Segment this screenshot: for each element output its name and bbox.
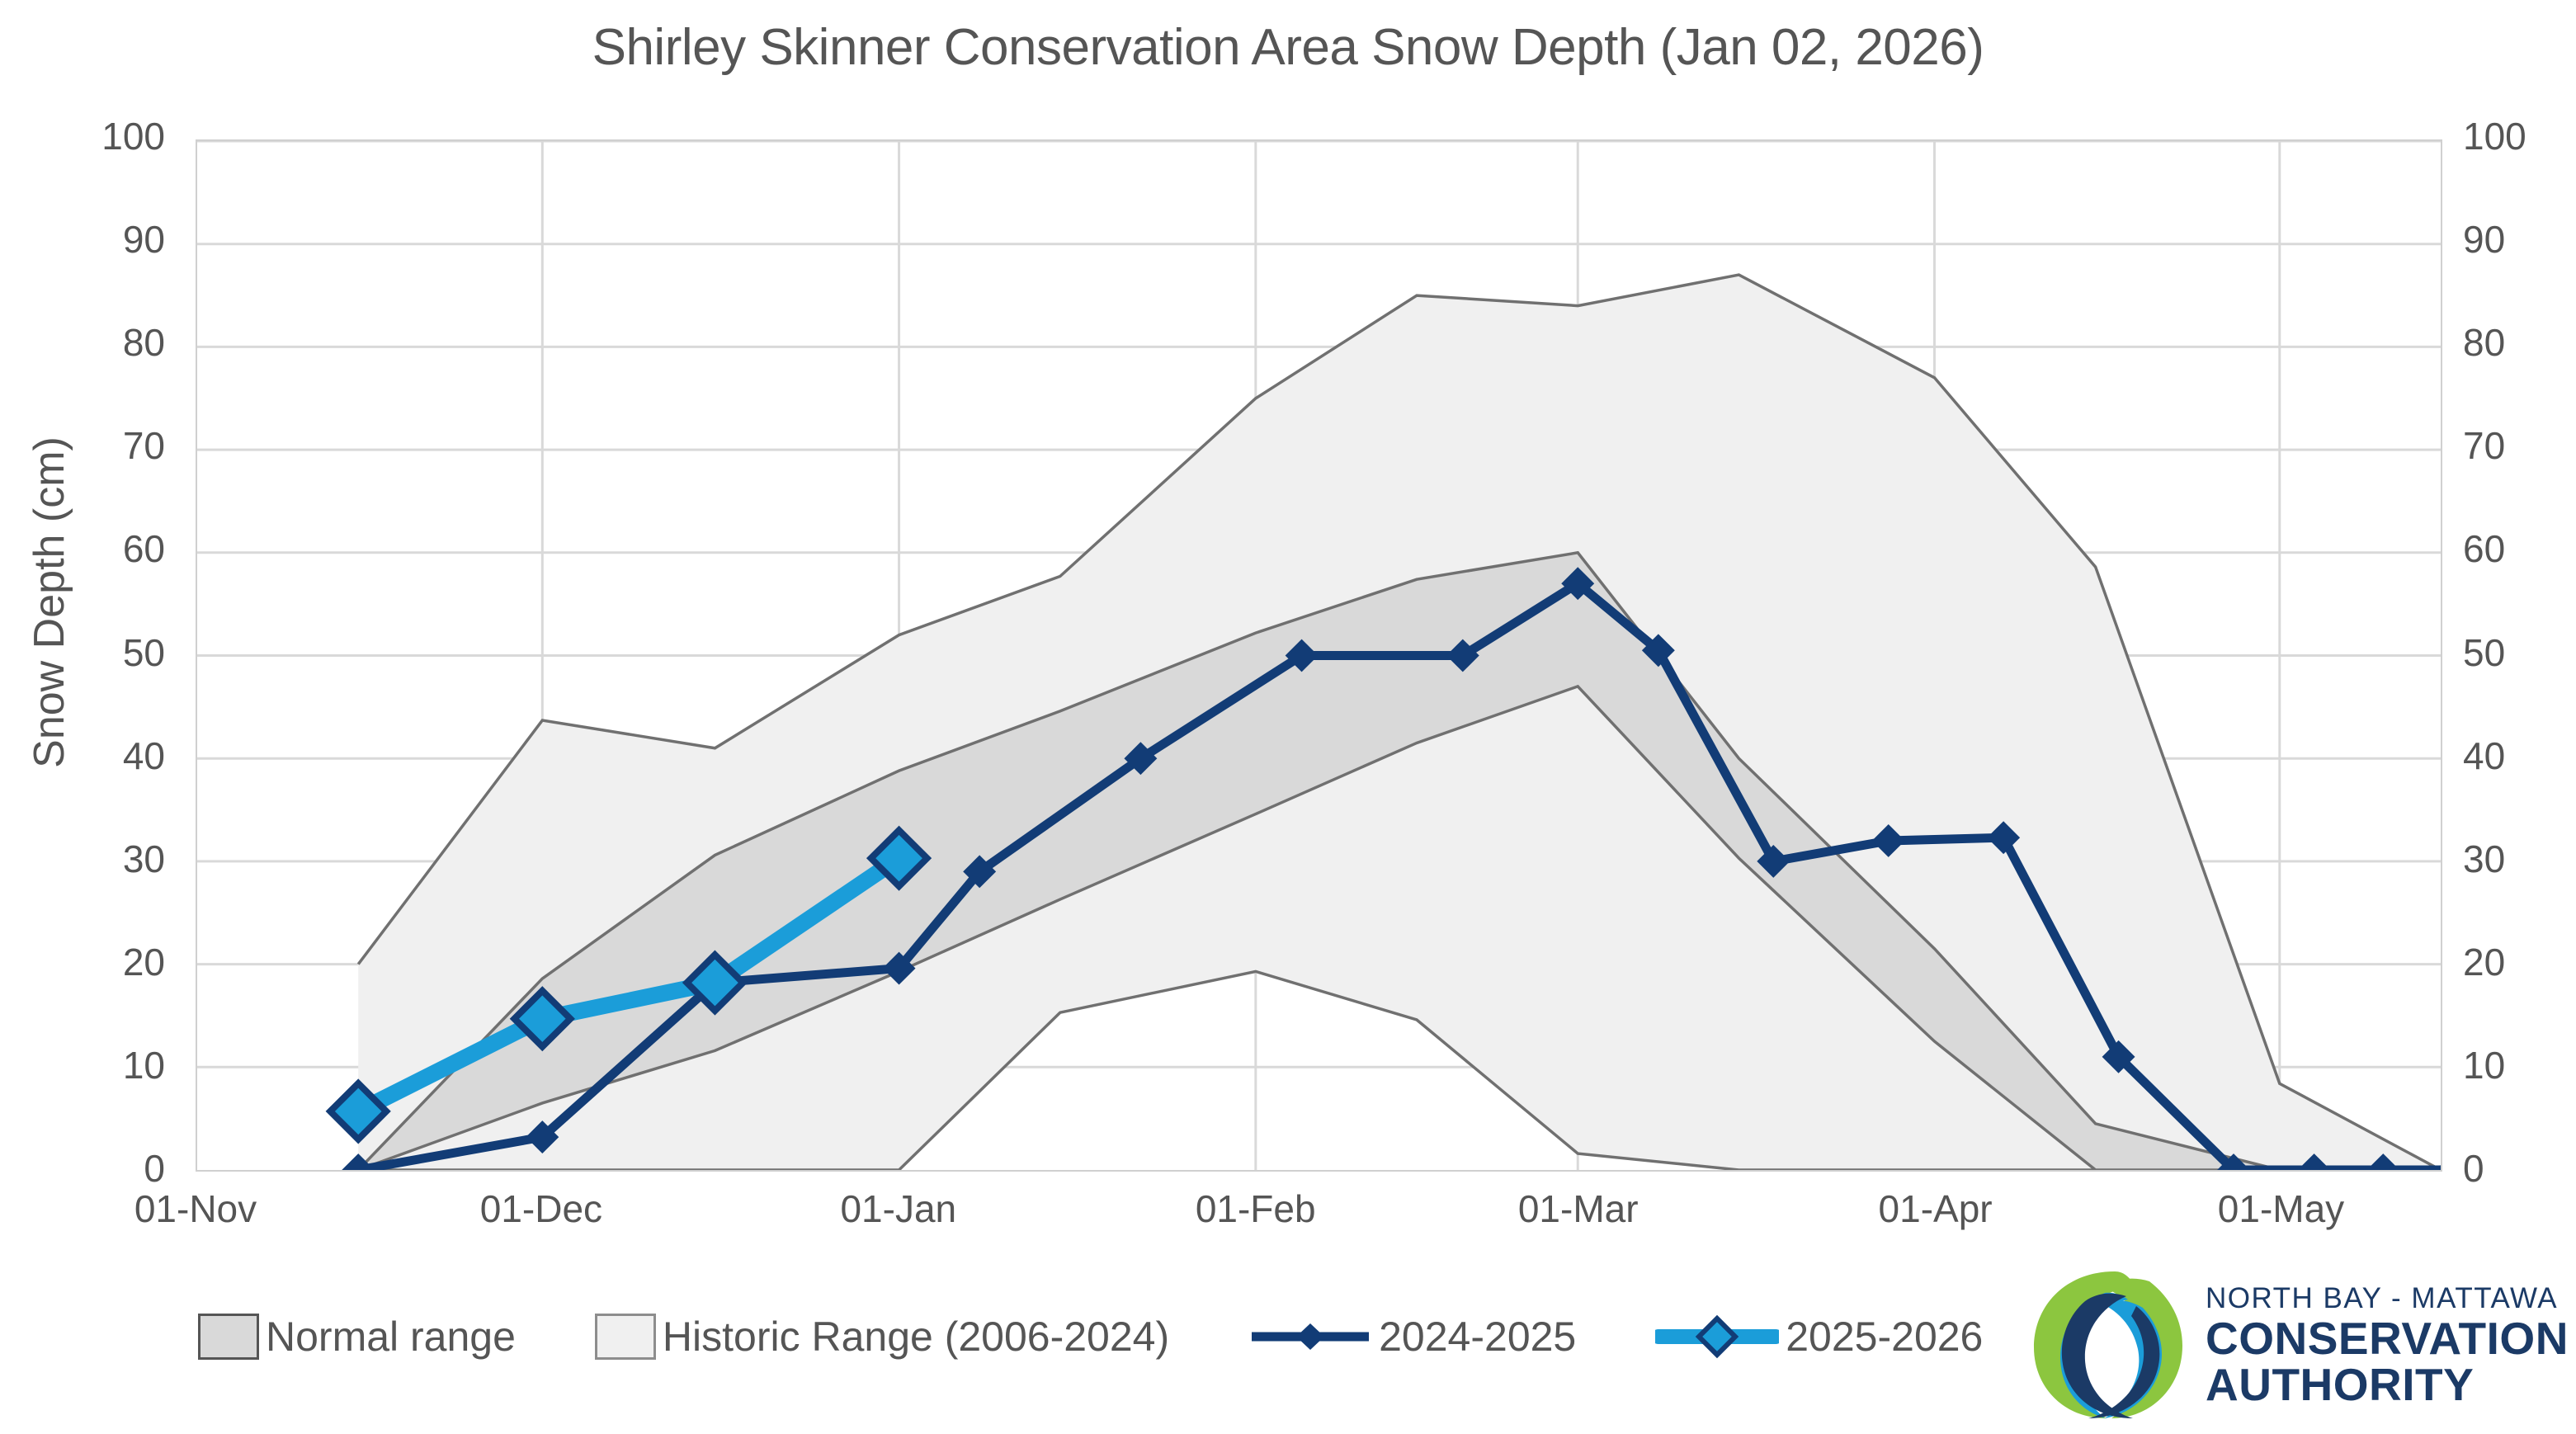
series-2025-2026-line-icon xyxy=(1655,1314,1779,1360)
organization-logo: NORTH BAY - MATTAWA CONSERVATION AUTHORI… xyxy=(2026,1262,2562,1427)
y-axis-tick-right: 100 xyxy=(2463,114,2576,158)
x-axis-tick: 01-Apr xyxy=(1812,1186,2059,1231)
y-axis-tick-left: 40 xyxy=(0,734,165,778)
chart-canvas xyxy=(197,141,2441,1170)
y-axis-tick-right: 30 xyxy=(2463,837,2576,881)
y-axis-tick-right: 50 xyxy=(2463,630,2576,675)
y-axis-tick-left: 0 xyxy=(0,1146,165,1191)
y-axis-tick-left: 70 xyxy=(0,423,165,468)
legend-label-2025-2026: 2025-2026 xyxy=(1786,1313,1983,1361)
y-axis-tick-left: 60 xyxy=(0,526,165,571)
y-axis-tick-left: 100 xyxy=(0,114,165,158)
x-axis-tick: 01-Dec xyxy=(418,1186,665,1231)
y-axis-tick-right: 70 xyxy=(2463,423,2576,468)
x-axis-tick: 01-Nov xyxy=(72,1186,319,1231)
legend-label-2024-2025: 2024-2025 xyxy=(1379,1313,1576,1361)
legend-label-normal-range: Normal range xyxy=(266,1313,516,1361)
y-axis-tick-right: 80 xyxy=(2463,320,2576,365)
legend-item-2024-2025[interactable]: 2024-2025 xyxy=(1248,1313,1576,1361)
logo-text-block: NORTH BAY - MATTAWA CONSERVATION AUTHORI… xyxy=(2206,1282,2569,1408)
page-title: Shirley Skinner Conservation Area Snow D… xyxy=(0,18,2576,77)
y-axis-tick-left: 20 xyxy=(0,940,165,984)
x-axis-tick: 01-Mar xyxy=(1455,1186,1702,1231)
conservation-authority-swirl-icon xyxy=(2026,1267,2191,1423)
legend-item-historic-range[interactable]: Historic Range (2006-2024) xyxy=(595,1313,1169,1361)
y-axis-tick-left: 10 xyxy=(0,1043,165,1087)
series-2024-2025-line-icon xyxy=(1248,1314,1372,1360)
y-axis-tick-right: 20 xyxy=(2463,940,2576,984)
y-axis-tick-left: 80 xyxy=(0,320,165,365)
logo-line-1: NORTH BAY - MATTAWA xyxy=(2206,1282,2569,1315)
legend-item-normal-range[interactable]: Normal range xyxy=(198,1313,516,1361)
x-axis-tick: 01-May xyxy=(2158,1186,2405,1231)
y-axis-tick-left: 50 xyxy=(0,630,165,675)
normal-range-swatch-icon xyxy=(198,1314,259,1360)
y-axis-tick-right: 60 xyxy=(2463,526,2576,571)
legend-item-2025-2026[interactable]: 2025-2026 xyxy=(1655,1313,1983,1361)
plot-area xyxy=(196,139,2442,1172)
y-axis-tick-right: 40 xyxy=(2463,734,2576,778)
chart-legend: Normal range Historic Range (2006-2024) … xyxy=(198,1287,2062,1386)
y-axis-tick-right: 0 xyxy=(2463,1146,2576,1191)
y-axis-tick-right: 10 xyxy=(2463,1043,2576,1087)
snow-depth-chart-page: Shirley Skinner Conservation Area Snow D… xyxy=(0,0,2576,1434)
legend-label-historic-range: Historic Range (2006-2024) xyxy=(663,1313,1169,1361)
y-axis-title: Snow Depth (cm) xyxy=(25,314,74,891)
historic-range-swatch-icon xyxy=(595,1314,656,1360)
y-axis-tick-left: 90 xyxy=(0,217,165,262)
logo-line-3: AUTHORITY xyxy=(2206,1361,2569,1408)
x-axis-tick: 01-Feb xyxy=(1132,1186,1380,1231)
x-axis-tick: 01-Jan xyxy=(775,1186,1022,1231)
range-bands xyxy=(358,275,2441,1170)
y-axis-tick-left: 30 xyxy=(0,837,165,881)
y-axis-tick-right: 90 xyxy=(2463,217,2576,262)
logo-line-2: CONSERVATION xyxy=(2206,1315,2569,1361)
